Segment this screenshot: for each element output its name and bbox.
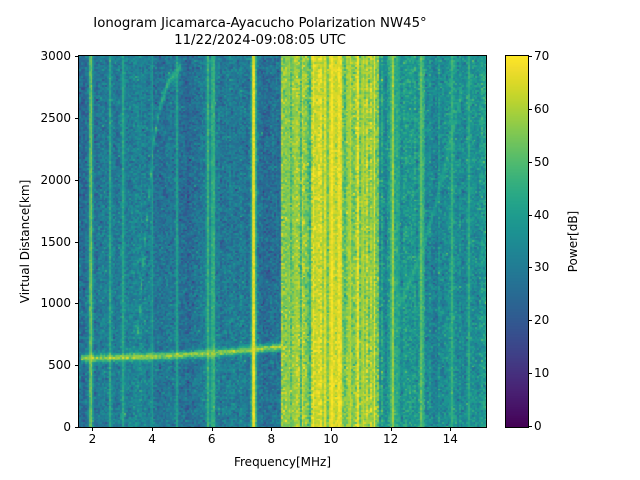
colorbar-tick-label: 50 [534,155,549,169]
x-tick-label: 10 [323,432,338,446]
colorbar-tick-label: 60 [534,102,549,116]
colorbar-tick-label: 0 [534,419,542,433]
ionogram-heatmap-canvas [79,56,486,427]
y-tick-mark [75,365,79,366]
x-tick-mark [271,427,272,431]
y-tick-mark [75,303,79,304]
colorbar-tick-label: 20 [534,313,549,327]
y-tick-mark [75,118,79,119]
y-tick-mark [75,180,79,181]
x-tick-label: 6 [208,432,216,446]
figure-title: Ionogram Jicamarca-Ayacucho Polarization… [0,16,520,49]
x-tick-mark [92,427,93,431]
colorbar-tick-label: 10 [534,366,549,380]
y-tick-mark [75,56,79,57]
x-tick-mark [331,427,332,431]
colorbar-tick-label: 30 [534,260,549,274]
colorbar-tick-label: 70 [534,49,549,63]
colorbar-gradient-canvas [506,56,528,427]
y-axis-label: Virtual Distance[km] [18,55,34,428]
x-tick-label: 4 [148,432,156,446]
ionogram-figure: Ionogram Jicamarca-Ayacucho Polarization… [0,0,640,480]
x-tick-label: 8 [267,432,275,446]
x-tick-label: 12 [383,432,398,446]
x-tick-label: 14 [443,432,458,446]
x-axis-label: Frequency[MHz] [78,455,487,469]
x-tick-mark [212,427,213,431]
ionogram-plot-area [78,55,487,428]
x-tick-mark [152,427,153,431]
colorbar-tick-label: 40 [534,208,549,222]
x-tick-mark [450,427,451,431]
figure-title-line-1: Ionogram Jicamarca-Ayacucho Polarization… [0,16,520,33]
y-tick-mark [75,427,79,428]
y-tick-mark [75,242,79,243]
colorbar [505,55,529,428]
x-tick-label: 2 [89,432,97,446]
x-tick-mark [391,427,392,431]
figure-title-line-2: 11/22/2024-09:08:05 UTC [0,33,520,50]
colorbar-label: Power[dB] [566,55,582,428]
